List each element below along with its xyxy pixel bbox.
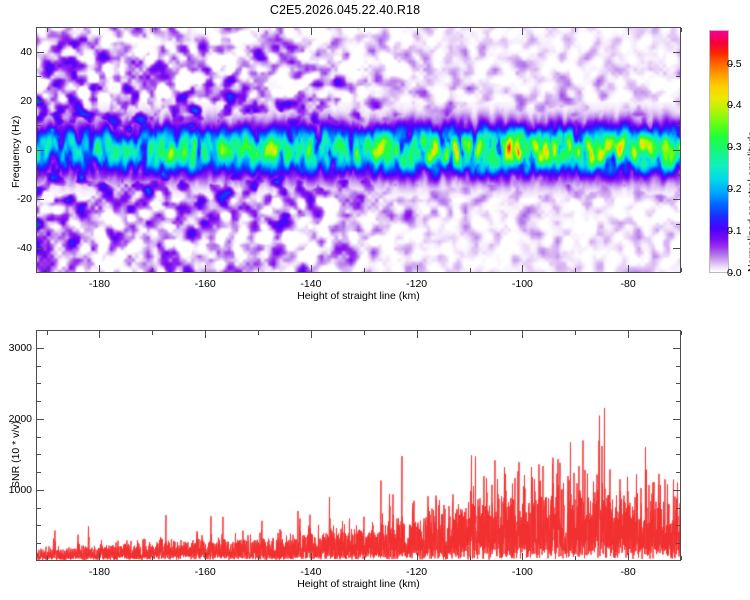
snr-panel — [36, 330, 681, 561]
x-tick-label: -180 — [89, 566, 110, 578]
x-tick-label: -120 — [406, 566, 427, 578]
colorbar-tick — [729, 189, 733, 190]
colorbar-tick-label: 0.0 — [727, 267, 742, 279]
axis-tick — [681, 556, 682, 560]
spectrogram-y-axis-title: Frequency (Hz) — [10, 116, 22, 188]
axis-tick — [681, 28, 682, 32]
colorbar-tick-label: 0.2 — [727, 183, 742, 195]
y-tick-label: -20 — [6, 193, 32, 205]
x-tick-label: -140 — [300, 278, 321, 290]
colorbar-gradient — [709, 30, 729, 273]
y-tick-label: 40 — [6, 46, 32, 58]
x-tick-label: -160 — [195, 278, 216, 290]
spectrogram-panel — [36, 27, 681, 273]
x-tick-label: -80 — [621, 566, 636, 578]
y-tick-label: 20 — [6, 95, 32, 107]
colorbar-tick — [729, 64, 733, 65]
snr-x-axis-title: Height of straight line (km) — [297, 578, 420, 590]
x-tick-label: -80 — [621, 278, 636, 290]
x-tick-label: -120 — [406, 278, 427, 290]
colorbar-title: Normalized spectral amplitude — [746, 131, 750, 272]
x-tick-label: -180 — [89, 278, 110, 290]
colorbar-tick-label: 0.3 — [727, 141, 742, 153]
colorbar-tick — [729, 273, 733, 274]
x-tick-label: -160 — [195, 566, 216, 578]
colorbar-tick — [729, 147, 733, 148]
colorbar-tick — [729, 231, 733, 232]
colorbar-tick — [729, 105, 733, 106]
x-tick-label: -140 — [300, 566, 321, 578]
axis-tick — [681, 331, 682, 335]
colorbar-tick-label: 0.1 — [727, 225, 742, 237]
snr-y-axis-title: SNR (10 * v/v) — [10, 420, 22, 487]
y-tick-label: -40 — [6, 242, 32, 254]
y-tick-label: 3000 — [6, 342, 32, 354]
axis-tick — [681, 268, 682, 272]
spectrogram-canvas — [37, 28, 680, 272]
x-tick-label: -100 — [512, 566, 533, 578]
snr-canvas — [37, 331, 680, 560]
spectrogram-x-axis-title: Height of straight line (km) — [297, 290, 420, 302]
x-tick-label: -100 — [512, 278, 533, 290]
page-title: C2E5.2026.045.22.40.R18 — [0, 3, 690, 17]
figure-root: C2E5.2026.045.22.40.R18 -180-160-140-120… — [0, 0, 750, 600]
colorbar-tick-label: 0.4 — [727, 99, 742, 111]
colorbar — [709, 30, 729, 273]
colorbar-tick-label: 0.5 — [727, 58, 742, 70]
